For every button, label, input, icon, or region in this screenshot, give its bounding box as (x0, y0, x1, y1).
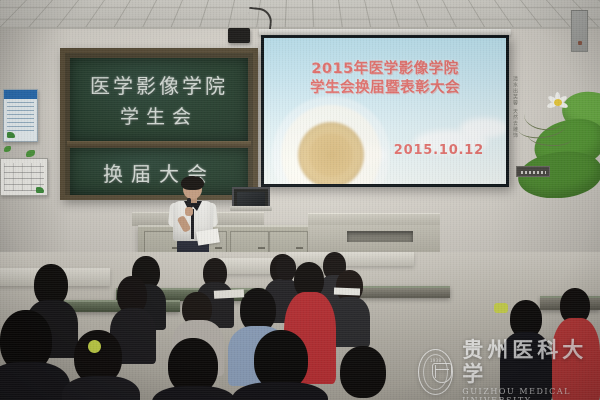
audience-member (330, 270, 370, 344)
notebook-prop (214, 289, 244, 299)
presenter-hand (185, 207, 193, 216)
presenter-papers (196, 228, 220, 245)
desk-item (494, 303, 508, 313)
slide-date: 2015.10.12 (394, 143, 484, 158)
poster-text-lines (7, 102, 34, 131)
cloud-graphic (460, 118, 506, 138)
student-body (0, 362, 70, 400)
student-head (340, 346, 386, 398)
wall-control-panel[interactable] (571, 10, 588, 52)
schedule-leaf-decor (36, 187, 44, 193)
ceiling (0, 0, 600, 30)
blackboard-line-1: 医学影像学院 (70, 70, 248, 99)
watermark-english-name: GUIZHOU MEDICAL UNIVERSITY (462, 387, 600, 400)
slide-title: 2015年医学影像学院 学生会换届暨表彰大会 (264, 60, 506, 98)
apple-prop (88, 340, 101, 353)
seal-year: 1938 (419, 358, 452, 363)
audience-member (232, 330, 328, 400)
slide-title-line-2: 学生会换届暨表彰大会 (264, 79, 506, 98)
notebook-prop (334, 288, 360, 296)
chalk-rail (67, 141, 251, 147)
mural-name-plate (516, 166, 550, 177)
laptop-keyboard[interactable] (230, 206, 272, 211)
watermark-text: 贵州医科大学 GUIZHOU MEDICAL UNIVERSITY (462, 338, 600, 400)
flower-center (554, 99, 562, 106)
university-seal-icon: 1938 (418, 349, 453, 395)
console-vent-slot (347, 231, 413, 242)
wall-speaker-icon (228, 28, 250, 43)
lotus-mural: 清水出芙蓉 天然去雕饰 (508, 48, 600, 198)
student-body (62, 376, 140, 400)
student-body (330, 297, 370, 347)
audience-member (62, 330, 140, 400)
poster-leaf-decor (7, 132, 15, 138)
projection-screen: 2015年医学影像学院 学生会换届暨表彰大会 2015.10.12 (261, 35, 509, 187)
laptop-screen[interactable] (232, 187, 270, 207)
sunflower-graphic (272, 96, 390, 184)
seal-caduceus-stem (435, 365, 437, 378)
classroom-schedule-board (0, 158, 48, 196)
audience-member (326, 346, 404, 400)
seal-caduceus-bar (435, 369, 449, 371)
blackboard-lower-panel: 换届大会 (70, 148, 248, 195)
projected-slide: 2015年医学影像学院 学生会换届暨表彰大会 2015.10.12 (264, 38, 506, 184)
blackboard-line-2: 学生会 (70, 102, 248, 129)
audience-member (0, 310, 70, 400)
lotus-flower-icon (548, 92, 568, 110)
student-body (152, 386, 236, 400)
university-watermark: 1938 贵州医科大学 GUIZHOU MEDICAL UNIVERSITY (418, 338, 600, 400)
blackboard: 医学影像学院 学生会 换届大会 (60, 48, 258, 200)
blackboard-upper-panel: 医学影像学院 学生会 (70, 58, 248, 142)
student-body (232, 382, 328, 400)
lecture-hall-photo: 医学影像学院 学生会 换届大会 2015年医学影像学院 学生会换届暨表彰大会 2… (0, 0, 600, 400)
slide-title-line-1: 2015年医学影像学院 (264, 60, 506, 79)
mural-calligraphy: 清水出芙蓉 天然去雕饰 (511, 76, 518, 139)
classroom-notice-poster (3, 89, 38, 142)
control-panel-indicator (578, 41, 582, 45)
audience-member (152, 338, 236, 400)
presenter-hair (181, 176, 204, 190)
blackboard-line-3: 换届大会 (70, 158, 248, 187)
student-head (254, 330, 308, 390)
watermark-chinese-name: 贵州医科大学 (462, 338, 600, 386)
